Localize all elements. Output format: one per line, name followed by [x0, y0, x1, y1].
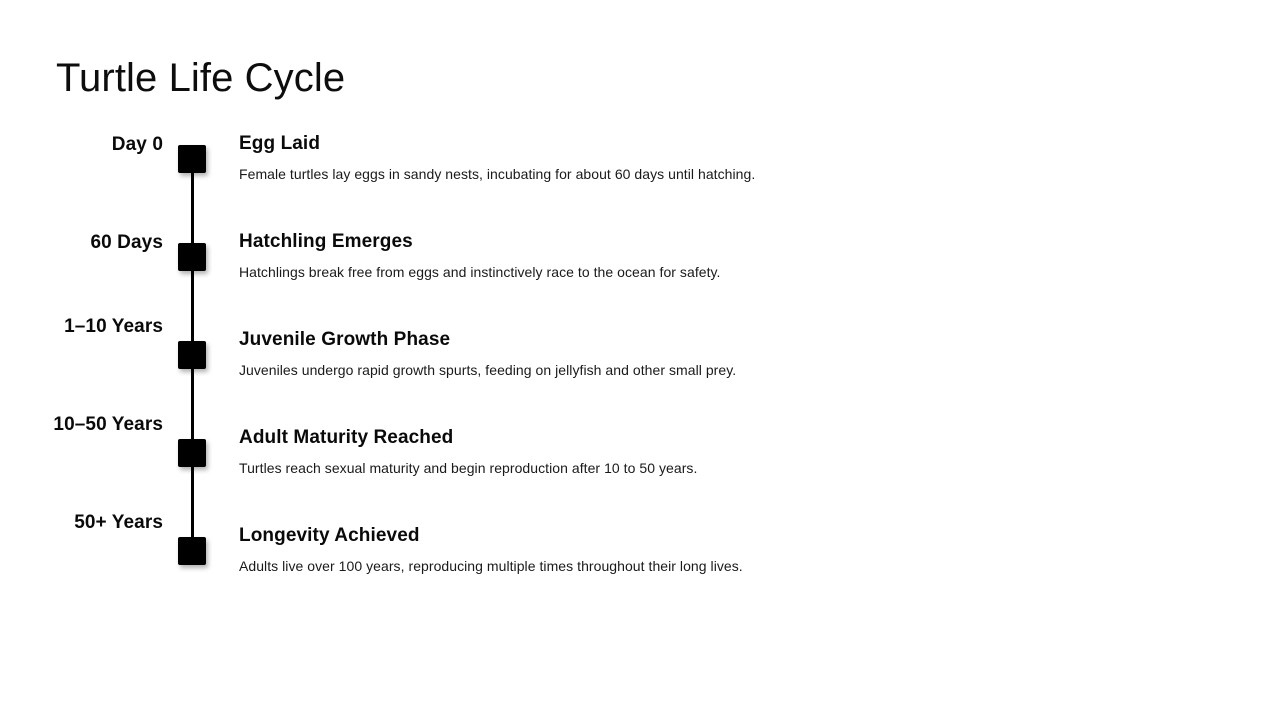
timeline-rail: [178, 425, 206, 523]
timeline-item: 60 Days Hatchling Emerges Hatchlings bre…: [0, 229, 1280, 327]
timeline-marker-icon: [178, 341, 206, 369]
timeline-item: 50+ Years Longevity Achieved Adults live…: [0, 523, 1280, 621]
timeline-rail: [178, 229, 206, 327]
timeline-marker-icon: [178, 243, 206, 271]
timeline-item-description: Adults live over 100 years, reproducing …: [239, 556, 1139, 576]
timeline-item-heading: Adult Maturity Reached: [239, 425, 1139, 451]
timeline-item-date: 60 Days: [0, 229, 163, 257]
timeline-item-date: 10–50 Years: [0, 411, 163, 439]
timeline-item-date: Day 0: [0, 131, 163, 159]
timeline-item-description: Turtles reach sexual maturity and begin …: [239, 458, 1139, 478]
timeline-item-content: Longevity Achieved Adults live over 100 …: [239, 523, 1139, 576]
timeline-item-description: Juveniles undergo rapid growth spurts, f…: [239, 360, 1139, 380]
timeline-item: 1–10 Years Juvenile Growth Phase Juvenil…: [0, 327, 1280, 425]
timeline-item-date: 1–10 Years: [0, 313, 163, 341]
timeline-item: 10–50 Years Adult Maturity Reached Turtl…: [0, 425, 1280, 523]
timeline-item-date: 50+ Years: [0, 509, 163, 537]
slide-canvas: Turtle Life Cycle Day 0 Egg Laid Female …: [0, 0, 1280, 720]
timeline: Day 0 Egg Laid Female turtles lay eggs i…: [0, 131, 1280, 621]
timeline-item: Day 0 Egg Laid Female turtles lay eggs i…: [0, 131, 1280, 229]
timeline-item-heading: Juvenile Growth Phase: [239, 327, 1139, 353]
timeline-item-heading: Hatchling Emerges: [239, 229, 1139, 255]
timeline-item-content: Hatchling Emerges Hatchlings break free …: [239, 229, 1139, 282]
timeline-rail: [178, 327, 206, 425]
timeline-item-heading: Egg Laid: [239, 131, 1139, 157]
timeline-rail: [178, 131, 206, 229]
timeline-item-content: Juvenile Growth Phase Juveniles undergo …: [239, 327, 1139, 380]
timeline-marker-icon: [178, 145, 206, 173]
timeline-item-description: Hatchlings break free from eggs and inst…: [239, 262, 1139, 282]
timeline-marker-icon: [178, 537, 206, 565]
timeline-item-content: Adult Maturity Reached Turtles reach sex…: [239, 425, 1139, 478]
timeline-rail: [178, 523, 206, 621]
timeline-item-content: Egg Laid Female turtles lay eggs in sand…: [239, 131, 1139, 184]
timeline-item-heading: Longevity Achieved: [239, 523, 1139, 549]
timeline-item-description: Female turtles lay eggs in sandy nests, …: [239, 164, 1139, 184]
timeline-marker-icon: [178, 439, 206, 467]
page-title: Turtle Life Cycle: [56, 52, 345, 104]
